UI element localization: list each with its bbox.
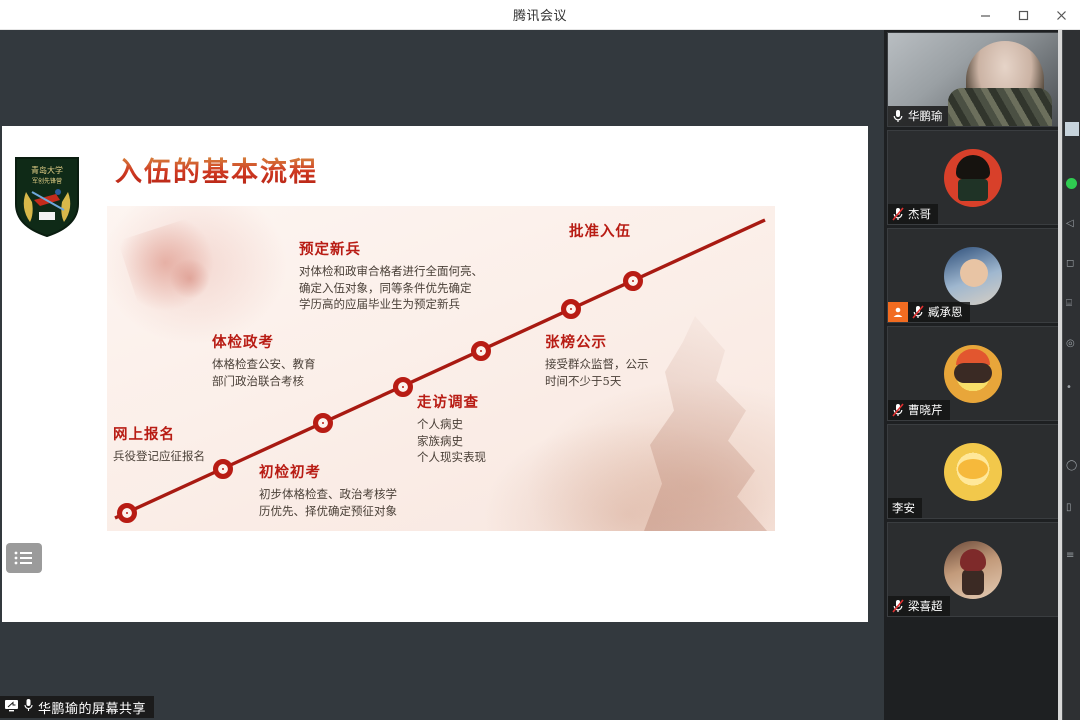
timeline-node-5 [471, 341, 491, 361]
military-shield-emblem: 青岛大学 军创先锋营 [12, 156, 82, 238]
svg-text:青岛大学: 青岛大学 [31, 165, 63, 175]
participant-name: 梁喜超 [908, 598, 943, 614]
participant-name: 臧承恩 [928, 304, 963, 320]
flow-step-title: 体检政考 [212, 331, 316, 352]
share-status-bar: 华鹏瑜的屏幕共享 [0, 696, 154, 718]
message-icon: ◁ [1066, 218, 1078, 230]
screen-share-icon [4, 699, 19, 716]
background-avatar [1065, 122, 1079, 136]
participant-tile[interactable]: 梁喜超 [887, 522, 1059, 617]
participant-tile[interactable]: 李安 [887, 424, 1059, 519]
flow-step-body: 兵役登记应征报名 [113, 448, 205, 465]
flow-step-1: 网上报名 兵役登记应征报名 [113, 423, 205, 465]
list-menu-icon[interactable] [6, 543, 42, 573]
share-status-label: 华鹏瑜的屏幕共享 [38, 698, 146, 717]
flow-step-3: 体检政考 体格检查公安、教育 部门政治联合考核 [212, 331, 316, 389]
avatar [944, 541, 1002, 599]
participant-name-bar: 华鹏瑜 [888, 106, 950, 126]
participant-tile[interactable]: 曹晓芹 [887, 326, 1059, 421]
minimize-icon[interactable] [966, 0, 1004, 30]
background-app-sidebar: ◁ ◻ ⌸ ◎ • ◯ ▯ ≡ [1062, 30, 1080, 720]
more-icon: • [1066, 382, 1078, 394]
participant-tile[interactable]: 杰哥 [887, 130, 1059, 225]
contacts-icon: ◻ [1066, 258, 1078, 270]
flow-step-title: 网上报名 [113, 423, 205, 444]
participant-name: 曹晓芹 [908, 402, 943, 418]
host-badge [888, 302, 908, 322]
title-bar: 腾讯会议 [0, 0, 1080, 30]
timeline-node-7 [623, 271, 643, 291]
window-title: 腾讯会议 [513, 5, 567, 24]
participant-name: 杰哥 [908, 206, 931, 222]
close-icon[interactable] [1042, 0, 1080, 30]
maximize-icon[interactable] [1004, 0, 1042, 30]
participant-rail[interactable]: 华鹏瑜 杰哥 臧承恩 [884, 30, 1062, 720]
flow-step-title: 张榜公示 [545, 331, 649, 352]
participant-name-bar: 梁喜超 [888, 596, 950, 616]
decorative-petal [118, 211, 236, 324]
participant-tile[interactable]: 臧承恩 [887, 228, 1059, 323]
avatar [944, 345, 1002, 403]
flow-step-6: 张榜公示 接受群众监督，公示 时间不少于5天 [545, 331, 649, 389]
participant-name-bar: 臧承恩 [888, 302, 970, 322]
microphone-muted-icon [892, 403, 904, 417]
device-icon: ▯ [1066, 502, 1078, 514]
participant-name-bar: 曹晓芹 [888, 400, 950, 420]
screen-share-stage[interactable]: 青岛大学 军创先锋营 入伍的基本流程 [0, 30, 884, 720]
avatar [944, 247, 1002, 305]
microphone-muted-icon [892, 207, 904, 221]
online-status-dot [1066, 178, 1077, 189]
flow-step-4: 走访调查 个人病史 家族病史 个人现实表现 [417, 391, 486, 466]
microphone-on-icon [892, 109, 904, 123]
flow-step-body: 接受群众监督，公示 时间不少于5天 [545, 356, 649, 389]
flow-step-title: 初检初考 [259, 461, 397, 482]
microphone-muted-icon [892, 599, 904, 613]
flow-step-5: 预定新兵 对体检和政审合格者进行全面何亮、 确定入伍对象，同等条件优先确定 学历… [299, 238, 483, 313]
flow-step-body: 个人病史 家族病史 个人现实表现 [417, 416, 486, 466]
participant-tile[interactable]: 华鹏瑜 [887, 32, 1059, 127]
circle-icon: ◯ [1066, 460, 1078, 472]
flow-step-title: 走访调查 [417, 391, 486, 412]
timeline-node-3 [313, 413, 333, 433]
participant-name: 华鹏瑜 [908, 108, 943, 124]
timeline-node-6 [561, 299, 581, 319]
globe-icon: ◎ [1066, 338, 1078, 350]
menu-icon: ≡ [1066, 550, 1078, 562]
svg-text:军创先锋营: 军创先锋营 [32, 177, 62, 185]
tencent-meeting-window: 腾讯会议 青岛大学 军创先锋营 [0, 0, 1080, 720]
flow-step-title: 批准入伍 [569, 220, 631, 241]
flow-step-body: 体格检查公安、教育 部门政治联合考核 [212, 356, 316, 389]
shared-slide: 青岛大学 军创先锋营 入伍的基本流程 [2, 126, 868, 622]
participant-name-bar: 李安 [888, 498, 922, 518]
page-title: 入伍的基本流程 [115, 150, 318, 189]
flow-step-7: 批准入伍 [569, 220, 631, 245]
participant-name: 李安 [892, 500, 915, 516]
avatar [944, 443, 1002, 501]
timeline-node-4 [393, 377, 413, 397]
flow-step-body: 对体检和政审合格者进行全面何亮、 确定入伍对象，同等条件优先确定 学历高的应届毕… [299, 263, 483, 313]
participant-name-bar: 杰哥 [888, 204, 938, 224]
docs-icon: ⌸ [1066, 298, 1078, 310]
microphone-muted-icon [912, 305, 924, 319]
flow-step-body: 初步体格检查、政治考核学 历优先、择优确定预征对象 [259, 486, 397, 519]
timeline-node-2 [213, 459, 233, 479]
flow-diagram: 网上报名 兵役登记应征报名 初检初考 初步体格检查、政治考核学 历优先、择优确定… [107, 206, 775, 531]
flow-step-2: 初检初考 初步体格检查、政治考核学 历优先、择优确定预征对象 [259, 461, 397, 519]
flow-step-title: 预定新兵 [299, 238, 483, 259]
timeline-node-1 [117, 503, 137, 523]
avatar [944, 149, 1002, 207]
window-controls [966, 0, 1080, 30]
microphone-icon [23, 698, 34, 716]
